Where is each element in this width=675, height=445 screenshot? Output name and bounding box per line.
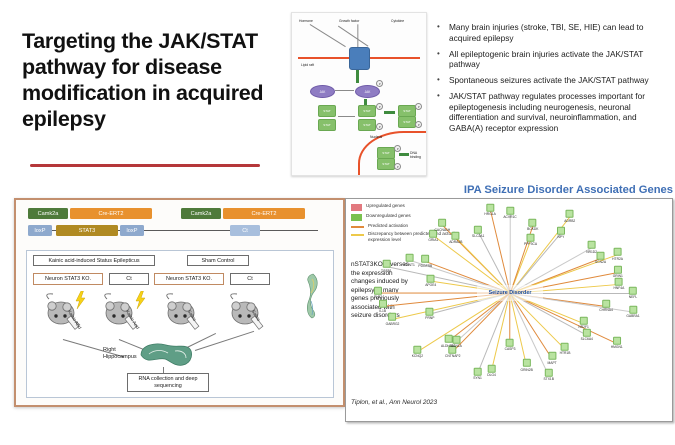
gene-node-glyph-icon (474, 368, 482, 376)
gene-node-label: SLC2A1 (472, 234, 484, 238)
nuclear-stat-2: STAT (377, 158, 395, 170)
gene-node[interactable]: ADRB2 (564, 210, 575, 222)
pathway-ligand-hormone: Hormone (299, 19, 313, 23)
group-header-kainate: Kainic acid-induced Status Epilepticus (33, 255, 155, 266)
gene-node-label: KCNQ2 (412, 354, 423, 358)
gene-node-label: GABRG2 (386, 321, 400, 325)
gene-node-label: STX1B (544, 377, 554, 381)
gene-node-label: PDGFRB (418, 264, 432, 268)
gene-node-glyph-icon (614, 266, 622, 274)
gene-node-glyph-icon (405, 254, 413, 262)
gene-node-glyph-icon (421, 255, 429, 263)
gene-node[interactable]: SLC2A1 (472, 226, 484, 238)
construct-chip-cre-ert2-2: Cre-ERT2 (223, 208, 305, 219)
legend-label: Upregulated genes (366, 203, 405, 209)
bullet-text: JAK/STAT pathway regulates processes imp… (449, 91, 667, 133)
bullet-text: Many brain injuries (stroke, TBI, SE, HI… (449, 22, 667, 43)
phospho-icon-dimer-1: P (415, 103, 422, 110)
network-edge (417, 293, 510, 352)
gene-node-glyph-icon (426, 308, 434, 316)
phospho-icon-stat-1: P (376, 103, 383, 110)
ipa-network-panel: TLR2APOE4TGFB1PDGFRBKCNT1GRIA1CACNA1HADR… (345, 198, 673, 422)
gene-node[interactable]: HTR1B (560, 343, 571, 355)
cohort-label-ko-2: Neuron STAT3 KO. (154, 273, 224, 285)
gene-node[interactable]: NR1D2 (586, 241, 597, 253)
legend-label: Predicted activation (368, 223, 408, 229)
gene-node[interactable]: GRIN2B (521, 359, 533, 371)
gene-node-glyph-icon (629, 305, 637, 313)
gene-node[interactable]: CHRNA4 (599, 300, 613, 312)
gene-node-label: HNF4A (613, 286, 624, 290)
phospho-icon-jak: P (376, 80, 383, 87)
gene-node-label: ACVR1C (503, 215, 516, 219)
stat-dimer-2: STAT (398, 116, 416, 128)
gene-node-label: PPP3CA (524, 242, 537, 246)
stat-monomer-2: STAT (318, 119, 336, 131)
gene-node-label: NPY (558, 235, 565, 239)
page-title: Targeting the JAK/STAT pathway for disea… (22, 28, 280, 132)
gene-node[interactable]: SLC6A4 (581, 328, 593, 340)
brain-section-icon (304, 273, 322, 319)
construct-chip-loxp-2: loxP (120, 225, 144, 236)
gene-node-glyph-icon (413, 346, 421, 354)
dna-binding-arrow (399, 153, 409, 156)
gene-node[interactable]: HMGN1 (611, 337, 623, 349)
legend-swatch-downregulated-icon (351, 214, 362, 221)
group-header-sham: Sham Control (187, 255, 249, 266)
jak-active-node: JAK (355, 85, 380, 98)
legend-line-discrepancy-icon (351, 234, 364, 236)
gene-node-label: NEFL (629, 295, 637, 299)
title-underline-rule (30, 164, 260, 167)
gene-node-label: CACNA1H (434, 227, 450, 231)
gene-node[interactable]: HRG1A (484, 203, 495, 215)
construct-chip-cre-ert2-1: Cre-ERT2 (70, 208, 152, 219)
gene-node-label: ADRB2 (564, 219, 575, 223)
gene-node-label: GABRA1 (626, 314, 639, 318)
gene-node-glyph-icon (389, 313, 397, 321)
lightning-bolt-icon-1 (75, 291, 86, 309)
mouse-icon-3 (159, 291, 205, 331)
gene-node-glyph-icon (545, 369, 553, 377)
mouse-icon-4 (223, 291, 269, 331)
gene-node-glyph-icon (474, 226, 482, 234)
gene-node[interactable]: ADRA2B (449, 231, 462, 243)
gene-node-label: CHRNA4 (599, 308, 613, 312)
membrane-label: Lipid raft (301, 63, 314, 67)
ligand-arrow-2 (358, 24, 359, 47)
gene-node-label: ADRA2B (449, 240, 462, 244)
cohort-label-ko-1: Neuron STAT3 KO. (33, 273, 103, 285)
legend-swatch-upregulated-icon (351, 204, 362, 211)
gene-node[interactable]: PDGFRB (418, 255, 432, 267)
gene-node[interactable]: GABRA1 (626, 305, 639, 317)
gene-node-label: GRIA1 (428, 238, 438, 242)
experiment-design-panel: Camk2a Cre-ERT2 Camk2a Cre-ERT2 loxP STA… (14, 198, 345, 407)
gene-node-label: BCKDK (527, 227, 538, 231)
gene-node-label: HRG1A (484, 212, 495, 216)
ipa-panel-title: IPA Seizure Disorder Associated Genes (437, 184, 673, 196)
gene-node[interactable]: HNF4A (613, 278, 624, 290)
gene-node-label: HTR2A (612, 256, 623, 260)
citation: Tiplon, et al., Ann Neurol 2023 (351, 399, 437, 406)
gene-node[interactable]: NR2F1 (578, 317, 588, 329)
legend-item-discrepancy: Discrepancy between predicted and actual… (351, 231, 459, 242)
bullet-text: All epileptogenic brain injuries activat… (449, 49, 667, 70)
gene-node-glyph-icon (548, 352, 556, 360)
gene-node-glyph-icon (427, 275, 435, 283)
gene-node-glyph-icon (588, 241, 596, 249)
gene-node-label: TLR2 (374, 295, 382, 299)
gene-node[interactable]: HTR2A (612, 248, 623, 260)
gene-node-glyph-icon (379, 300, 387, 308)
gene-node[interactable]: BCKDK (527, 219, 538, 231)
gene-node-label: PRNP (425, 316, 434, 320)
phospho-icon-dimer-2: P (415, 121, 422, 128)
gene-node-glyph-icon (452, 231, 460, 239)
gene-node[interactable]: PPP3CA (524, 234, 537, 246)
gene-node-label: APOE4 (425, 283, 436, 287)
gene-node-label: NR1D2 (586, 250, 597, 254)
pathway-ligand-growth-factor: Growth factor (339, 19, 359, 23)
gene-node-glyph-icon (506, 207, 514, 215)
gene-node[interactable]: GRIN1 (613, 266, 623, 278)
gene-node-label: IL1B (379, 309, 386, 313)
output-label: RNA collection and deep sequencing (127, 373, 209, 392)
gene-node[interactable]: IL1B (379, 300, 387, 312)
pathway-ligand-cytokine: Cytokine (391, 19, 404, 23)
gene-node-glyph-icon (580, 317, 588, 325)
gene-node-label: TGFB1 (381, 269, 392, 273)
gene-node-label: SCN2A (595, 260, 606, 264)
gene-node[interactable]: MAPT (548, 352, 557, 364)
cohort-label-ct-1: Ct (109, 273, 149, 285)
stat-equilibrium-arrow (338, 116, 355, 117)
gene-node-glyph-icon (444, 335, 452, 343)
gene-node-glyph-icon (557, 226, 565, 234)
gene-node-glyph-icon (561, 343, 569, 351)
legend-label: Downregulated genes (366, 213, 411, 219)
gene-node-glyph-icon (529, 219, 537, 227)
gene-node[interactable]: CACNA1H (434, 219, 450, 231)
gene-node[interactable]: CASP3 (505, 339, 516, 351)
gene-node-label: CASP3 (505, 347, 516, 351)
gene-node-glyph-icon (566, 210, 574, 218)
list-item: • Many brain injuries (stroke, TBI, SE, … (437, 22, 667, 43)
jak-inactive-node: JAK (310, 85, 335, 98)
gene-node[interactable]: TLR2 (374, 287, 382, 299)
gene-node[interactable]: KCNQ2 (412, 346, 423, 358)
construct-chip-stat3: STAT3 (56, 225, 118, 236)
construct-chip-camk2a-1: Camk2a (28, 208, 68, 219)
network-edge (510, 293, 527, 365)
receptor-icon (349, 47, 370, 70)
jak-stat-pathway-diagram: Hormone Growth factor Cytokine Lipid raf… (291, 12, 427, 176)
list-item: • Spontaneous seizures activate the JAK/… (437, 75, 667, 86)
network-edge (510, 293, 565, 349)
gene-node-glyph-icon (629, 287, 637, 295)
tissue-label: Right Hippocampus (103, 347, 133, 360)
gene-node-glyph-icon (597, 252, 605, 260)
construct-chip-camk2a-2: Camk2a (181, 208, 221, 219)
gene-node-glyph-icon (506, 339, 514, 347)
gene-node-glyph-icon (488, 365, 496, 373)
gene-node-glyph-icon (615, 278, 623, 286)
network-edge (510, 213, 511, 293)
gene-node-glyph-icon (527, 234, 535, 242)
gene-node-label: GRIN2B (521, 367, 533, 371)
cohort-label-ct-2: Ct (230, 273, 270, 285)
dna-binding-label: DNA binding (410, 151, 424, 159)
lightning-bolt-icon-2 (135, 291, 146, 309)
stat-phospho-1: STAT (358, 105, 376, 117)
network-edge (510, 293, 511, 345)
receptor-to-jak-arrow (356, 70, 359, 83)
gene-node-label: MAPT (548, 360, 557, 364)
gene-node[interactable]: NPY (557, 226, 565, 238)
legend-line-predicted-icon (351, 226, 364, 228)
hippocampus-icon (135, 339, 197, 369)
gene-node[interactable]: NEFL (629, 287, 637, 299)
gene-node-glyph-icon (602, 300, 610, 308)
bullet-marker-icon: • (437, 91, 443, 133)
gene-node-glyph-icon (583, 328, 591, 336)
nucleus-label: Nucleus (370, 135, 382, 139)
gene-node-label: ALDH5A1 (441, 343, 456, 347)
stat-phospho-2: STAT (358, 119, 376, 131)
list-item: • All epileptogenic brain injuries activ… (437, 49, 667, 70)
title-block: Targeting the JAK/STAT pathway for disea… (22, 28, 280, 132)
gene-node-label: HMGN1 (611, 345, 623, 349)
gene-node[interactable]: TGFB1 (381, 260, 392, 272)
convergence-arrow-4 (195, 331, 254, 351)
bullet-text: Spontaneous seizures activate the JAK/ST… (449, 75, 667, 86)
gene-node-label: KCNT1 (404, 262, 415, 266)
gene-node-glyph-icon (613, 337, 621, 345)
gene-node[interactable]: PRNP (425, 308, 434, 320)
gene-node-label: DLG4 (487, 373, 496, 377)
gene-node-glyph-icon (382, 260, 390, 268)
gene-node-label: CNTNAP2 (445, 354, 460, 358)
bullet-marker-icon: • (437, 75, 443, 86)
bullet-marker-icon: • (437, 49, 443, 70)
stat-dimerization-arrow (384, 111, 395, 114)
gene-node[interactable]: SCN2A (595, 252, 606, 264)
gene-node[interactable]: KCNT1 (404, 254, 415, 266)
list-item: • JAK/STAT pathway regulates processes i… (437, 91, 667, 133)
bullet-marker-icon: • (437, 22, 443, 43)
gene-node[interactable]: DLG4 (487, 365, 496, 377)
legend-label: Discrepancy between predicted and actual… (368, 231, 459, 242)
construct-chip-loxp-1: loxP (28, 225, 52, 236)
gene-node[interactable]: SYN1 (473, 368, 482, 380)
cohort-diagram: Kainic acid-induced Status Epilepticus S… (26, 250, 334, 398)
gene-node-glyph-icon (374, 287, 382, 295)
bullet-list: • Many brain injuries (stroke, TBI, SE, … (437, 22, 667, 139)
gene-node-glyph-icon (523, 359, 531, 367)
jak-equilibrium-arrow (335, 90, 354, 91)
gene-node[interactable]: APOE4 (425, 275, 436, 287)
gene-node-glyph-icon (438, 219, 446, 227)
construct-chip-ct: Ct (230, 225, 260, 236)
gene-node-label: SYN1 (473, 376, 482, 380)
gene-node[interactable]: STX1B (544, 369, 554, 381)
gene-node[interactable]: ACVR1C (503, 207, 516, 219)
gene-node-label: SLC6A4 (581, 337, 593, 341)
legend-item-upregulated: Upregulated genes (351, 203, 459, 211)
phospho-icon-stat-2: P (376, 123, 383, 130)
gene-node[interactable]: ALDH5A1 (441, 335, 456, 347)
gene-node-label: HTR1B (560, 351, 571, 355)
gene-node-glyph-icon (486, 203, 494, 211)
hub-node-seizure-disorder: Seizure Disorder (477, 285, 543, 301)
gene-node[interactable]: GABRG2 (386, 313, 400, 325)
stat-monomer-1: STAT (318, 105, 336, 117)
gene-node-glyph-icon (614, 248, 622, 256)
slide-canvas: Targeting the JAK/STAT pathway for disea… (0, 0, 675, 445)
